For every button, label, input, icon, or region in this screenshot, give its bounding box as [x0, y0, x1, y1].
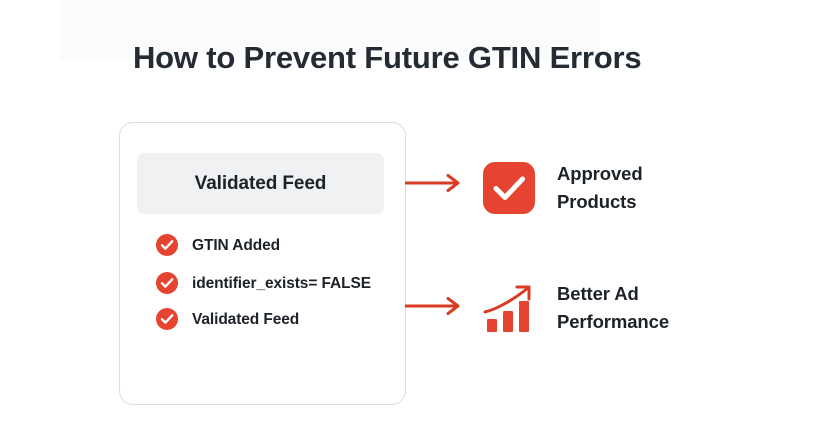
arrow-to-approved-products — [404, 172, 466, 194]
list-item-label: GTIN Added — [192, 234, 280, 255]
arrow-to-better-ad-performance — [404, 295, 466, 317]
feed-card-header: Validated Feed — [137, 153, 384, 214]
outcome-approved-products: Approved Products — [483, 160, 643, 216]
list-item-label: Validated Feed — [192, 308, 299, 329]
check-circle-icon — [156, 272, 178, 294]
feed-card-header-label: Validated Feed — [195, 173, 327, 195]
outcome-label: Approved Products — [557, 160, 643, 216]
check-circle-icon — [156, 308, 178, 330]
list-item-label: identifier_exists= FALSE — [192, 272, 371, 293]
validated-feed-card: Validated Feed GTIN Added identifier_exi… — [119, 122, 406, 405]
bar-chart-growth-icon — [483, 282, 535, 334]
list-item: identifier_exists= FALSE — [156, 272, 386, 294]
list-item: GTIN Added — [156, 234, 386, 256]
feed-checklist: GTIN Added identifier_exists= FALSE Vali… — [156, 234, 386, 346]
outcome-better-ad-performance: Better Ad Performance — [483, 280, 669, 336]
checkmark-square-icon — [483, 162, 535, 214]
outcome-label: Better Ad Performance — [557, 280, 669, 336]
list-item: Validated Feed — [156, 308, 386, 330]
page-title: How to Prevent Future GTIN Errors — [133, 40, 641, 76]
check-circle-icon — [156, 234, 178, 256]
